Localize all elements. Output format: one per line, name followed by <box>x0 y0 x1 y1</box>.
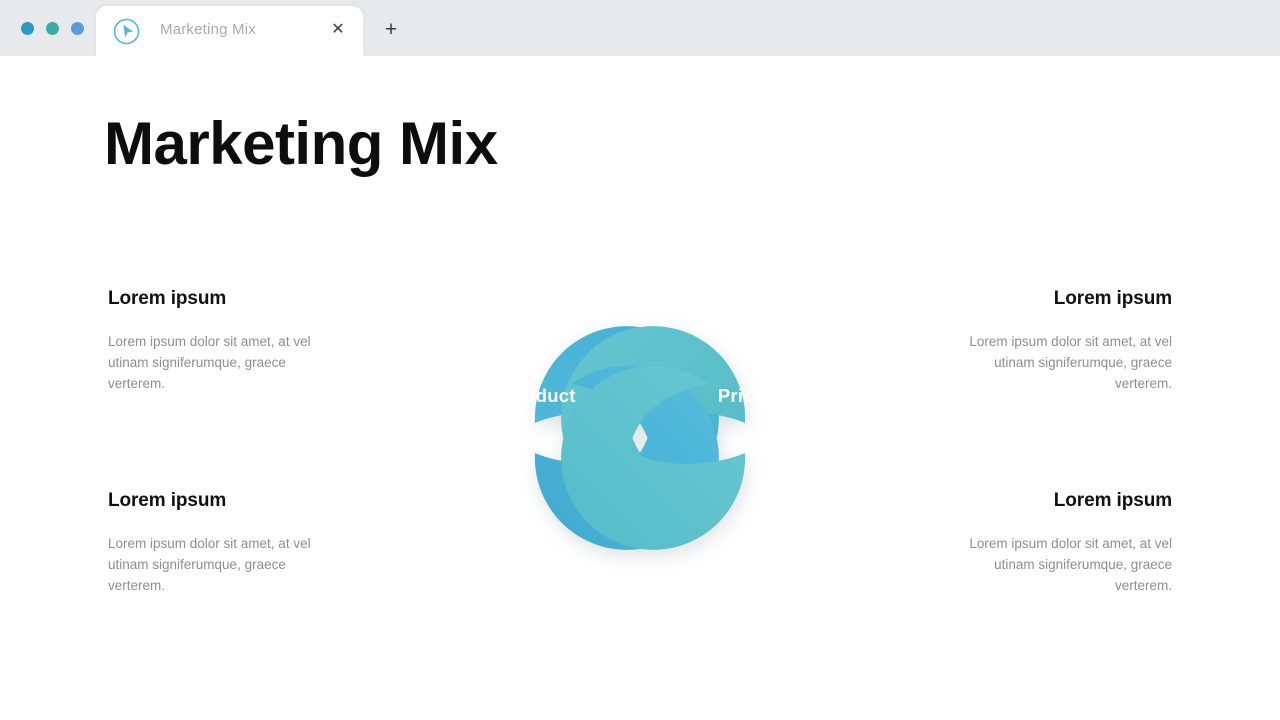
text-block-heading: Lorem ipsum <box>940 490 1172 513</box>
cursor-play-icon <box>113 18 140 45</box>
text-block-bottom-left: Lorem ipsum Lorem ipsum dolor sit amet, … <box>108 490 340 597</box>
text-block-heading: Lorem ipsum <box>108 288 340 311</box>
text-block-top-left: Lorem ipsum Lorem ipsum dolor sit amet, … <box>108 288 340 395</box>
text-block-bottom-right: Lorem ipsum Lorem ipsum dolor sit amet, … <box>940 490 1172 597</box>
dot-teal-icon[interactable] <box>46 22 59 35</box>
slide-canvas: Marketing Mix Lorem ipsum Lorem ipsum do… <box>0 56 1280 720</box>
window-controls <box>21 22 84 35</box>
marketing-mix-diagram: Product Price Promotion Place <box>432 230 848 646</box>
page-title: Marketing Mix <box>104 114 498 174</box>
new-tab-button[interactable]: + <box>381 19 401 39</box>
text-block-body: Lorem ipsum dolor sit amet, at vel utina… <box>940 331 1172 395</box>
text-block-heading: Lorem ipsum <box>940 288 1172 311</box>
close-icon[interactable]: ✕ <box>327 19 349 41</box>
text-block-body: Lorem ipsum dolor sit amet, at vel utina… <box>108 331 340 395</box>
tab-title: Marketing Mix <box>160 21 256 38</box>
text-block-top-right: Lorem ipsum Lorem ipsum dolor sit amet, … <box>940 288 1172 395</box>
text-block-heading: Lorem ipsum <box>108 490 340 513</box>
browser-chrome: Marketing Mix ✕ + <box>0 0 1280 56</box>
dot-blue-icon[interactable] <box>21 22 34 35</box>
text-block-body: Lorem ipsum dolor sit amet, at vel utina… <box>108 533 340 597</box>
text-block-body: Lorem ipsum dolor sit amet, at vel utina… <box>940 533 1172 597</box>
dot-indigo-icon[interactable] <box>71 22 84 35</box>
browser-tab[interactable]: Marketing Mix ✕ <box>96 6 363 56</box>
